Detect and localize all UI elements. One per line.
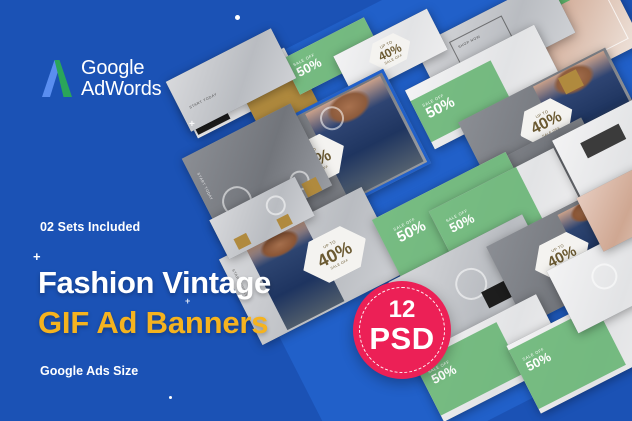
adwords-mark-icon: [40, 58, 74, 99]
decor-dot: [169, 396, 172, 399]
logo-line-1: Google: [81, 58, 162, 78]
decor-plus: +: [189, 120, 195, 130]
badge-format: PSD: [353, 323, 451, 354]
ads-size-label: Google Ads Size: [40, 364, 138, 378]
product-title-line-1: Fashion Vintage: [38, 265, 271, 301]
adwords-wordmark: Google AdWords: [81, 58, 162, 99]
psd-count-badge: 12 PSD: [353, 281, 451, 379]
google-adwords-logo: Google AdWords: [40, 58, 162, 99]
badge-count: 12: [353, 298, 451, 322]
product-title-line-2: GIF Ad Banners: [38, 305, 268, 341]
decor-plus: +: [33, 250, 41, 263]
poster-canvas: SHOP NOW SALE OFF 50% SALE OFF: [0, 0, 632, 421]
decor-dot: [235, 15, 240, 20]
sets-included-label: 02 Sets Included: [40, 220, 140, 234]
logo-line-2: AdWords: [81, 79, 162, 99]
